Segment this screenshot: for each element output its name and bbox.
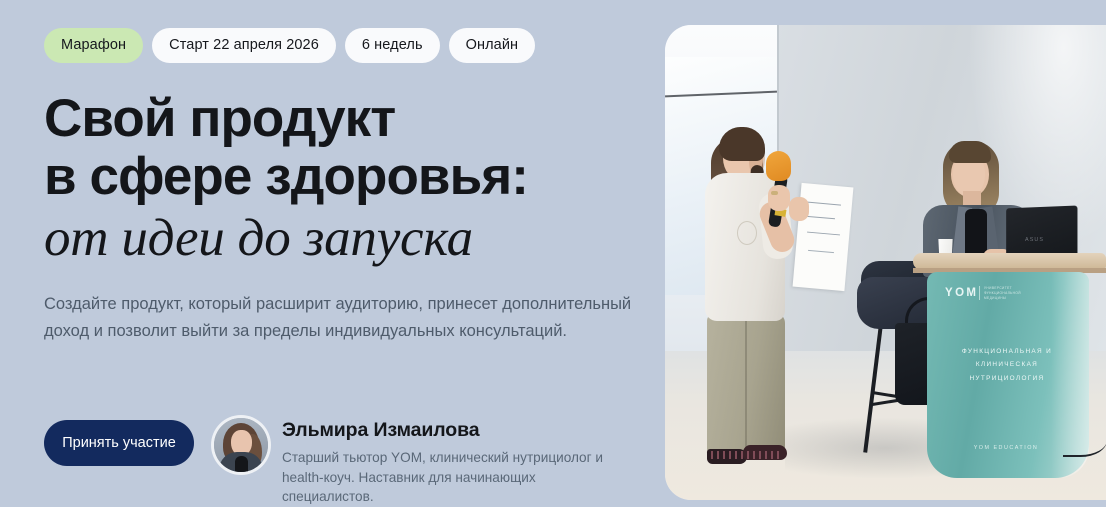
avatar-shirt bbox=[235, 456, 248, 472]
photo-laptop-brand: ASUS bbox=[1025, 237, 1044, 243]
instructor-text: Эльмира Измаилова Старший тьютор YOM, кл… bbox=[282, 418, 627, 507]
hero-content: Марафон Старт 22 апреля 2026 6 недель Он… bbox=[44, 28, 644, 361]
hero-description: Создайте продукт, который расширит аудит… bbox=[44, 291, 644, 344]
photo-presenter-hand-notes bbox=[789, 197, 809, 221]
badge-mode: Онлайн bbox=[449, 28, 536, 63]
photo-podium-logo-subtitle: УНИВЕРСИТЕТ ФУНКЦИОНАЛЬНОЙ МЕДИЦИНЫ bbox=[979, 286, 1024, 300]
avatar bbox=[214, 418, 268, 472]
course-hero-banner: Марафон Старт 22 апреля 2026 6 недель Он… bbox=[0, 0, 1106, 500]
instructor-role: Старший тьютор YOM, клинический нутрицио… bbox=[282, 448, 627, 507]
photo-podium-title: ФУНКЦИОНАЛЬНАЯ И КЛИНИЧЕСКАЯ НУТРИЦИОЛОГ… bbox=[947, 345, 1067, 385]
badge-duration: 6 недель bbox=[345, 28, 440, 63]
cta-instructor-row: Принять участие Эльмира Измаилова Старши… bbox=[44, 420, 627, 507]
photo-presenter-tshirt-print bbox=[737, 221, 757, 245]
headline-line-1: Свой продукт bbox=[44, 90, 644, 148]
photo-presenter-pants-seam bbox=[745, 317, 747, 451]
instructor-card: Эльмира Измаилова Старший тьютор YOM, кл… bbox=[214, 418, 627, 507]
photo-presenter-ring bbox=[771, 191, 778, 195]
photo-microphone-windscreen bbox=[766, 151, 791, 181]
photo-presenter-hair-top bbox=[719, 127, 765, 161]
instructor-name: Эльмира Измаилова bbox=[282, 419, 627, 442]
headline-line-3-italic: от идеи до запуска bbox=[44, 208, 644, 268]
photo-speaker-hair-front bbox=[949, 141, 991, 163]
photo-presenter-hand-mic bbox=[768, 185, 790, 211]
photo-presenter-shoe-studs bbox=[711, 451, 781, 459]
badge-row: Марафон Старт 22 апреля 2026 6 недель Он… bbox=[44, 28, 644, 63]
headline-line-2: в сфере здоровья: bbox=[44, 148, 644, 206]
photo-podium-logo: YOM bbox=[945, 287, 978, 299]
photo-podium-footer: YOM EDUCATION bbox=[953, 445, 1059, 451]
badge-start-date: Старт 22 апреля 2026 bbox=[152, 28, 336, 63]
enroll-button[interactable]: Принять участие bbox=[44, 420, 194, 466]
page-title: Свой продукт в сфере здоровья: от идеи д… bbox=[44, 90, 644, 268]
badge-format: Марафон bbox=[44, 28, 143, 63]
hero-photo: ASUS YOM УНИВЕРСИТЕТ ФУНКЦИОНАЛЬНОЙ МЕДИ… bbox=[665, 25, 1106, 500]
